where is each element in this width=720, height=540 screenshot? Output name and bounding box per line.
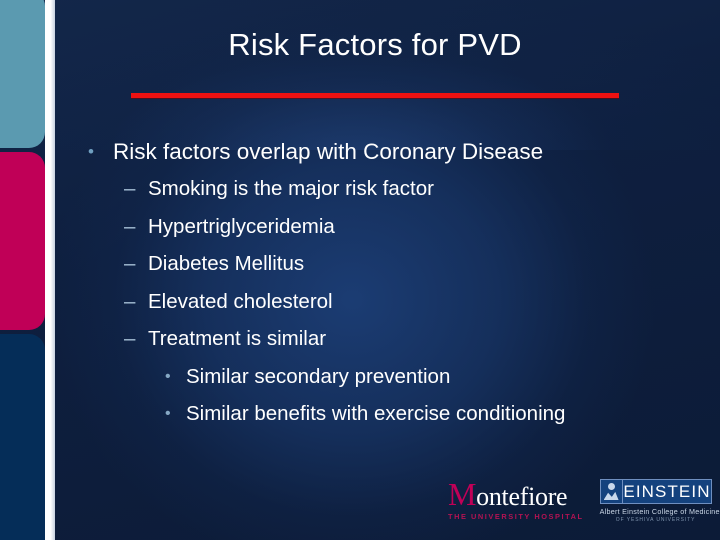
list-item: – Hypertriglyceridemia <box>124 208 698 246</box>
list-item-label: Treatment is similar <box>148 320 326 358</box>
bullet-dash-icon: – <box>124 208 148 246</box>
bullet-list: • Risk factors overlap with Coronary Dis… <box>88 134 698 433</box>
list-item: – Elevated cholesterol <box>124 283 698 321</box>
bullet-dot-icon: • <box>165 395 186 433</box>
list-item-label: Smoking is the major risk factor <box>148 170 434 208</box>
montefiore-logo: Montefiore THE UNIVERSITY HOSPITAL <box>448 478 584 521</box>
einstein-lockup: EINSTEIN <box>600 479 712 504</box>
list-item-label: Hypertriglyceridemia <box>148 208 335 246</box>
montefiore-initial: M <box>448 476 476 512</box>
montefiore-tagline: THE UNIVERSITY HOSPITAL <box>448 512 584 521</box>
bullet-dot-icon: • <box>165 358 186 396</box>
bullet-dash-icon: – <box>124 245 148 283</box>
bullet-dash-icon: – <box>124 283 148 321</box>
list-item-label: Elevated cholesterol <box>148 283 333 321</box>
einstein-logo: EINSTEIN Albert Einstein College of Medi… <box>600 478 712 523</box>
rail-block-crimson <box>0 152 45 330</box>
bullet-dash-icon: – <box>124 170 148 208</box>
list-item-label: Diabetes Mellitus <box>148 245 304 283</box>
slide-title: Risk Factors for PVD <box>110 26 640 64</box>
list-item: • Similar benefits with exercise conditi… <box>165 395 698 433</box>
list-item: – Smoking is the major risk factor <box>124 170 698 208</box>
rail-block-navy <box>0 334 45 540</box>
list-item-label: Similar secondary prevention <box>186 358 450 396</box>
slide-canvas: Risk Factors for PVD • Risk factors over… <box>0 0 720 540</box>
list-item: • Risk factors overlap with Coronary Dis… <box>88 134 698 170</box>
bullet-dot-icon: • <box>88 134 113 170</box>
logo-strip: Montefiore THE UNIVERSITY HOSPITAL EINST… <box>448 478 710 524</box>
montefiore-wordmark: Montefiore <box>448 480 584 511</box>
rail-white-separator <box>45 0 55 540</box>
list-item-label: Similar benefits with exercise condition… <box>186 395 565 433</box>
list-item: – Treatment is similar <box>124 320 698 358</box>
einstein-subtitle-line2: OF YESHIVA UNIVERSITY <box>600 517 712 523</box>
einstein-subtitle-line1: Albert Einstein College of Medicine <box>600 507 712 516</box>
list-item-label: Risk factors overlap with Coronary Disea… <box>113 134 543 170</box>
bullet-dash-icon: – <box>124 320 148 358</box>
left-decorative-rail <box>0 0 52 540</box>
einstein-emblem-icon <box>601 480 624 503</box>
rail-block-teal <box>0 0 45 148</box>
list-item: • Similar secondary prevention <box>165 358 698 396</box>
list-item: – Diabetes Mellitus <box>124 245 698 283</box>
einstein-wordmark: EINSTEIN <box>623 480 710 503</box>
montefiore-wordmark-rest: ontefiore <box>476 482 567 511</box>
title-underline-rule <box>131 93 619 98</box>
